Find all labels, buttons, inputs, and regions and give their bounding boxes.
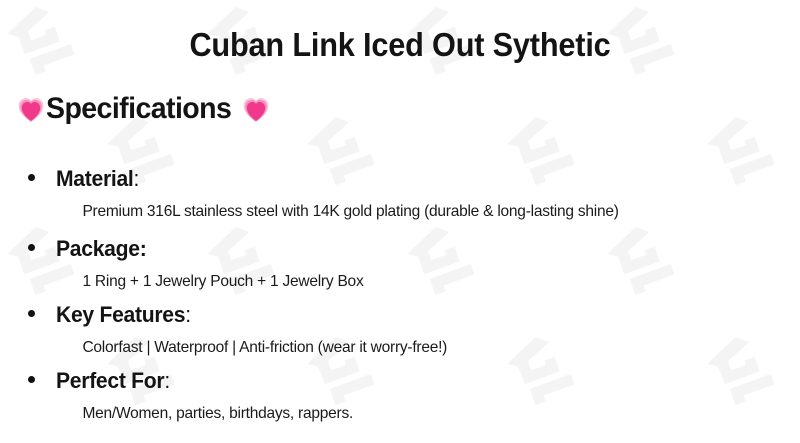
spec-item-label-text: Perfect For [56, 368, 164, 393]
list-item: Package: 1 Ring + 1 Jewelry Pouch + 1 Je… [0, 236, 800, 291]
specifications-heading: Specifications [16, 92, 271, 126]
spec-item-header: Package: [0, 236, 800, 262]
spec-item-label-text: Key Features [56, 302, 185, 327]
document-page: Cuban Link Iced Out Sythetic Specificati… [0, 0, 800, 443]
spec-item-colon: : [185, 302, 191, 327]
spec-item-label: Perfect For: [56, 368, 170, 394]
bullet-icon [28, 244, 35, 251]
spec-item-colon: : [134, 166, 140, 191]
spec-item-colon: : [164, 368, 170, 393]
list-item: Perfect For: Men/Women, parties, birthda… [0, 368, 800, 423]
list-item: Key Features: Colorfast | Waterproof | A… [0, 302, 800, 357]
spec-item-header: Key Features: [0, 302, 800, 328]
bullet-icon [28, 376, 35, 383]
spec-item-header: Material: [0, 166, 800, 192]
spec-item-label: Package: [56, 236, 146, 262]
spec-item-label: Material: [56, 166, 139, 192]
growing-heart-icon-right [241, 94, 271, 124]
spec-item-colon: : [140, 236, 147, 261]
list-item: Material: Premium 316L stainless steel w… [0, 166, 800, 221]
spec-item-label-text: Package [56, 236, 140, 261]
bullet-icon [28, 174, 35, 181]
growing-heart-icon-left [16, 94, 46, 124]
spec-item-detail: Men/Women, parties, birthdays, rappers. [0, 405, 776, 423]
page-title: Cuban Link Iced Out Sythetic [28, 26, 772, 64]
bullet-icon [28, 310, 35, 317]
specifications-heading-label: Specifications [46, 92, 231, 126]
spec-item-header: Perfect For: [0, 368, 800, 394]
spec-item-label: Key Features: [56, 302, 191, 328]
spec-item-detail: 1 Ring + 1 Jewelry Pouch + 1 Jewelry Box [0, 273, 776, 291]
spec-item-label-text: Material [56, 166, 134, 191]
specifications-list: Material: Premium 316L stainless steel w… [0, 166, 800, 423]
spec-item-detail: Colorfast | Waterproof | Anti-friction (… [0, 339, 776, 357]
spec-item-detail: Premium 316L stainless steel with 14K go… [0, 203, 776, 221]
